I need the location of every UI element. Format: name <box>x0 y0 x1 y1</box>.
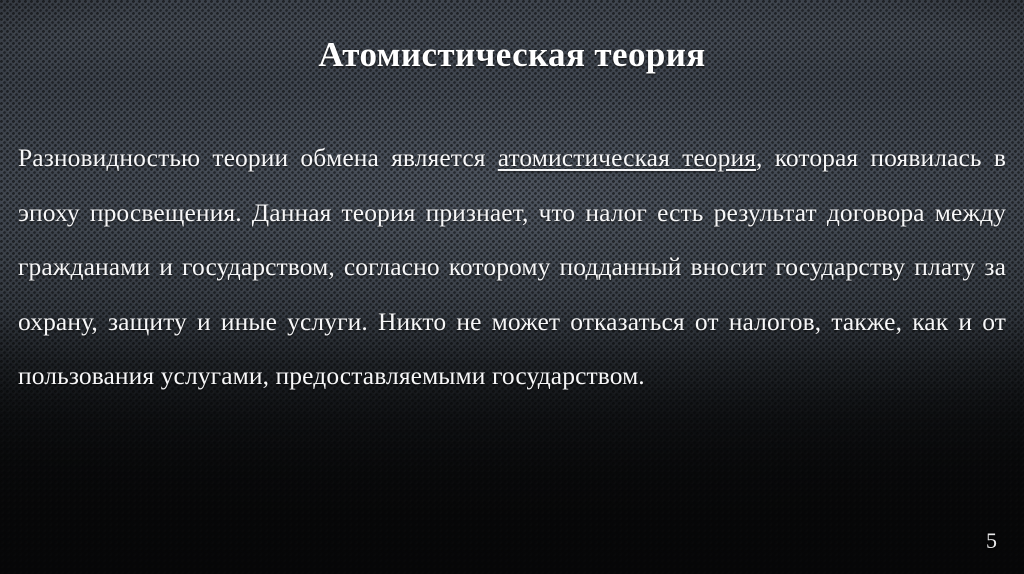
underlined-key-term: атомистическая теория <box>498 143 756 172</box>
body-paragraph: Разновидностью теории обмена является ат… <box>18 131 1006 404</box>
body-text-segment-1: Разновидностью теории обмена является <box>18 143 498 172</box>
page-number: 5 <box>986 528 997 554</box>
presentation-slide: Атомистическая теория Разновидностью тео… <box>0 0 1024 574</box>
slide-title: Атомистическая теория <box>0 33 1024 77</box>
slide-body: Разновидностью теории обмена является ат… <box>18 131 1006 404</box>
slide-content: Атомистическая теория Разновидностью тео… <box>0 0 1024 574</box>
body-text-segment-2: , которая появилась в эпоху просвещения.… <box>18 143 1006 390</box>
